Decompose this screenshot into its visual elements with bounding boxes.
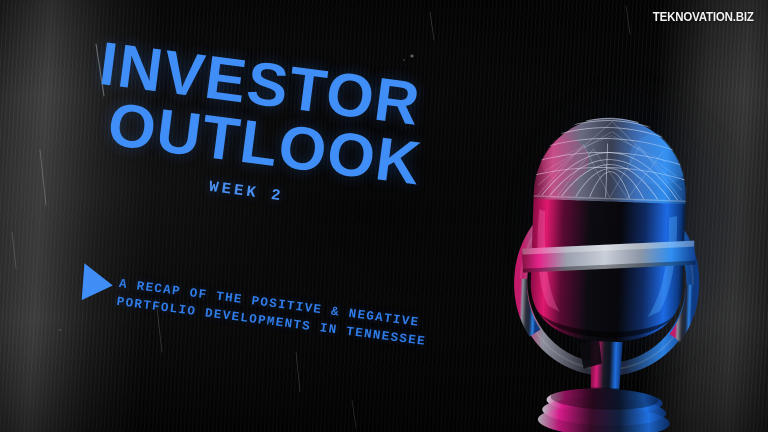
brand-logo: TEKNOVATION.BIZ	[653, 10, 754, 24]
microphone-illustration	[463, 41, 768, 432]
podcast-cover-poster: TEKNOVATION.BIZ INVESTOR OUTLOOK WEEK 2 …	[0, 0, 768, 432]
play-triangle-icon	[75, 260, 118, 307]
microphone-icon	[463, 41, 768, 432]
